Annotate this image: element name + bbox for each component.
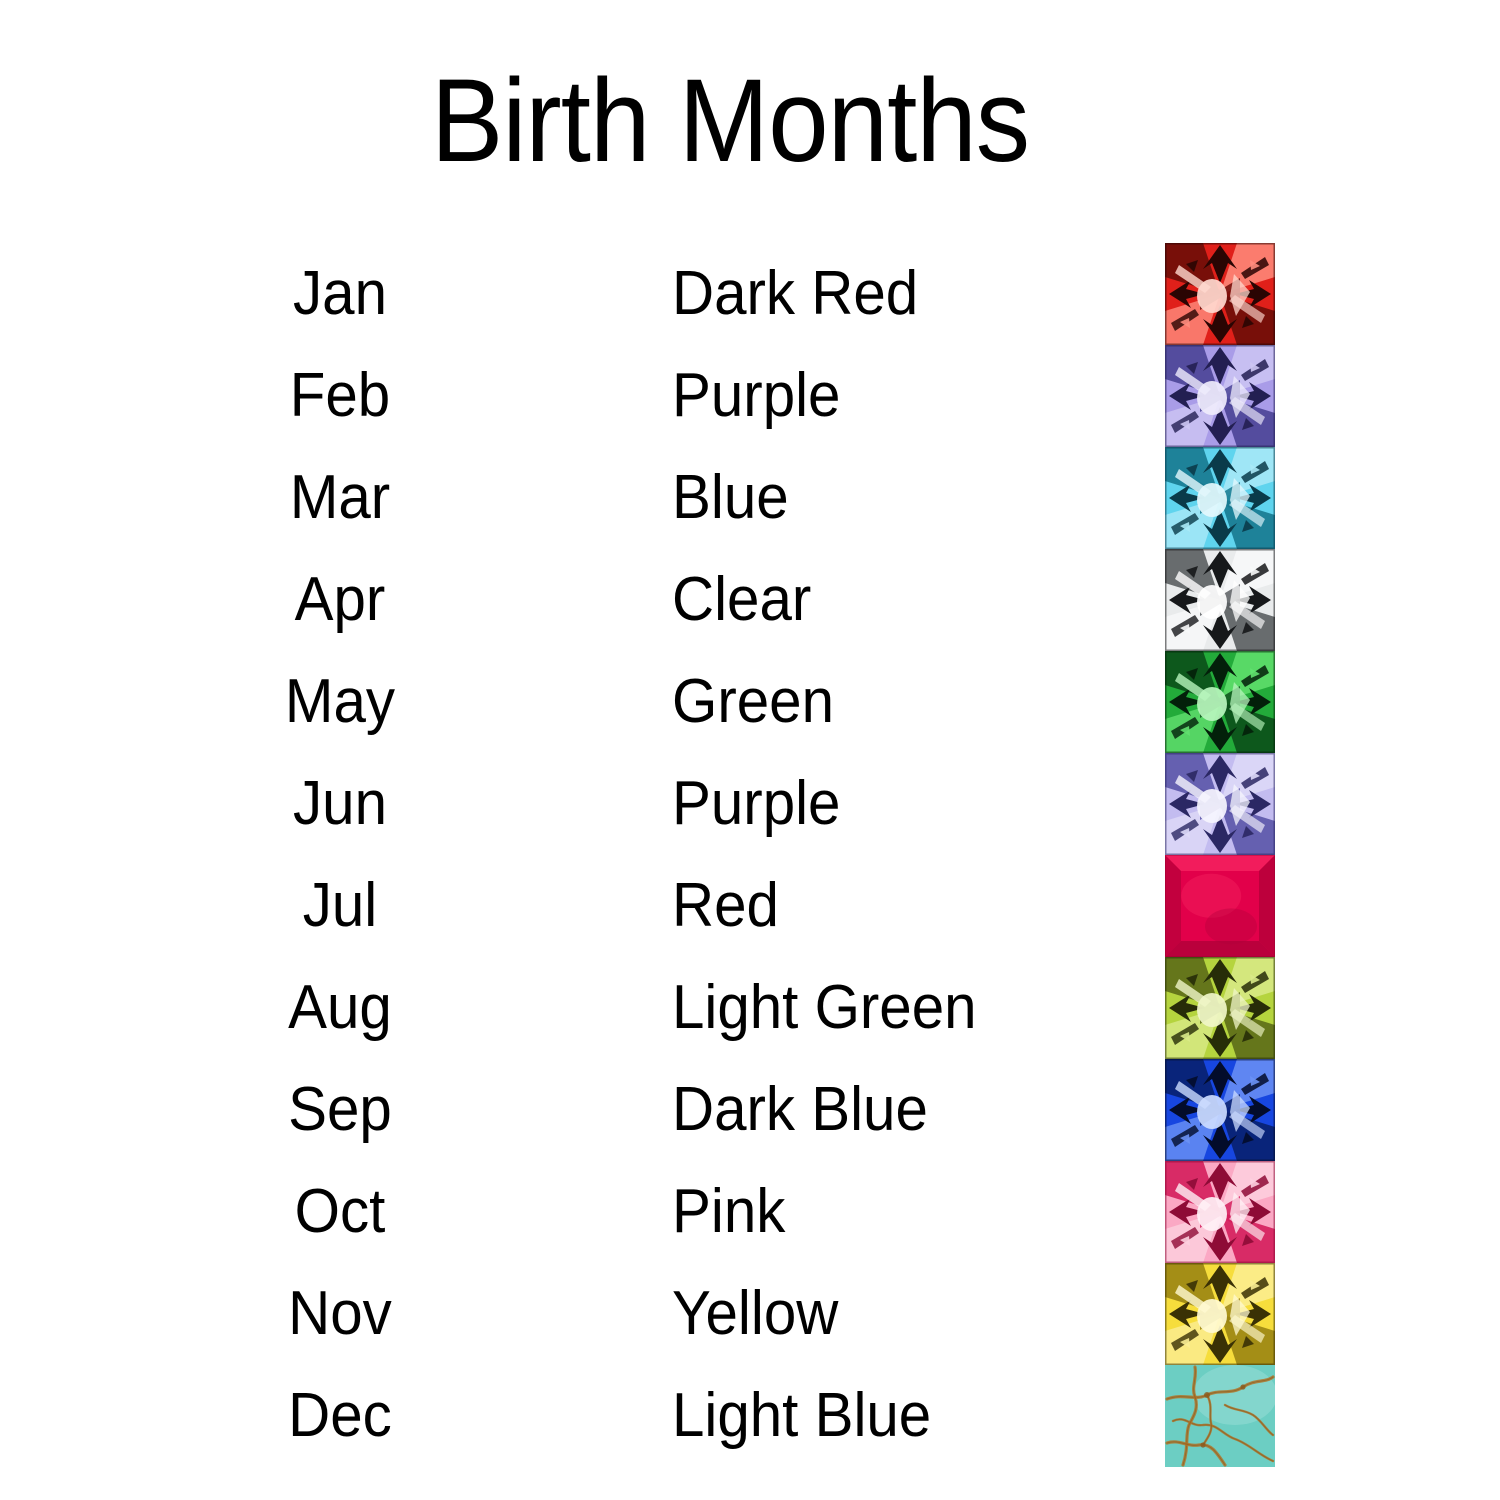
month-label: Sep — [218, 1079, 462, 1141]
color-name-label: Green — [672, 671, 1114, 733]
month-label: Jan — [218, 263, 462, 325]
color-name-label: Dark Red — [672, 263, 1114, 325]
month-label: Mar — [218, 467, 462, 529]
table-row: JunPurple — [0, 753, 1500, 855]
color-name-label: Blue — [672, 467, 1114, 529]
color-name-label: Pink — [672, 1181, 1114, 1243]
ruby-gem — [1165, 855, 1275, 957]
month-label: May — [218, 671, 462, 733]
color-name-label: Dark Blue — [672, 1079, 1114, 1141]
color-name-label: Yellow — [672, 1283, 1114, 1345]
color-name-label: Purple — [672, 365, 1114, 427]
table-row: NovYellow — [0, 1263, 1500, 1365]
color-name-label: Light Green — [672, 977, 1114, 1039]
sapphire-gem — [1165, 1059, 1275, 1161]
emerald-gem — [1165, 651, 1275, 753]
diamond-gem — [1165, 549, 1275, 651]
month-label: Jun — [218, 773, 462, 835]
aquamarine-gem — [1165, 447, 1275, 549]
citrine-gem — [1165, 1263, 1275, 1365]
table-row: MayGreen — [0, 651, 1500, 753]
page-title: Birth Months — [58, 62, 1401, 180]
amethyst-gem — [1165, 345, 1275, 447]
birth-months-table: JanDark RedFebPurpleMarBlueAprClearMayGr… — [0, 243, 1500, 1467]
table-row: JanDark Red — [0, 243, 1500, 345]
table-row: JulRed — [0, 855, 1500, 957]
month-label: Dec — [218, 1385, 462, 1447]
turquoise-gem — [1165, 1365, 1275, 1467]
table-row: OctPink — [0, 1161, 1500, 1263]
color-name-label: Clear — [672, 569, 1114, 631]
table-row: AprClear — [0, 549, 1500, 651]
table-row: DecLight Blue — [0, 1365, 1500, 1467]
page-canvas: Birth Months JanDark RedFebPurpleMarBlue… — [0, 0, 1500, 1500]
table-row: FebPurple — [0, 345, 1500, 447]
garnet-gem — [1165, 243, 1275, 345]
peridot-gem — [1165, 957, 1275, 1059]
month-label: Aug — [218, 977, 462, 1039]
table-row: AugLight Green — [0, 957, 1500, 1059]
month-label: Nov — [218, 1283, 462, 1345]
month-label: Oct — [218, 1181, 462, 1243]
color-name-label: Light Blue — [672, 1385, 1114, 1447]
alexandrite-gem — [1165, 753, 1275, 855]
color-name-label: Purple — [672, 773, 1114, 835]
table-row: MarBlue — [0, 447, 1500, 549]
table-row: SepDark Blue — [0, 1059, 1500, 1161]
month-label: Jul — [218, 875, 462, 937]
month-label: Apr — [218, 569, 462, 631]
month-label: Feb — [218, 365, 462, 427]
tourmaline-gem — [1165, 1161, 1275, 1263]
color-name-label: Red — [672, 875, 1114, 937]
